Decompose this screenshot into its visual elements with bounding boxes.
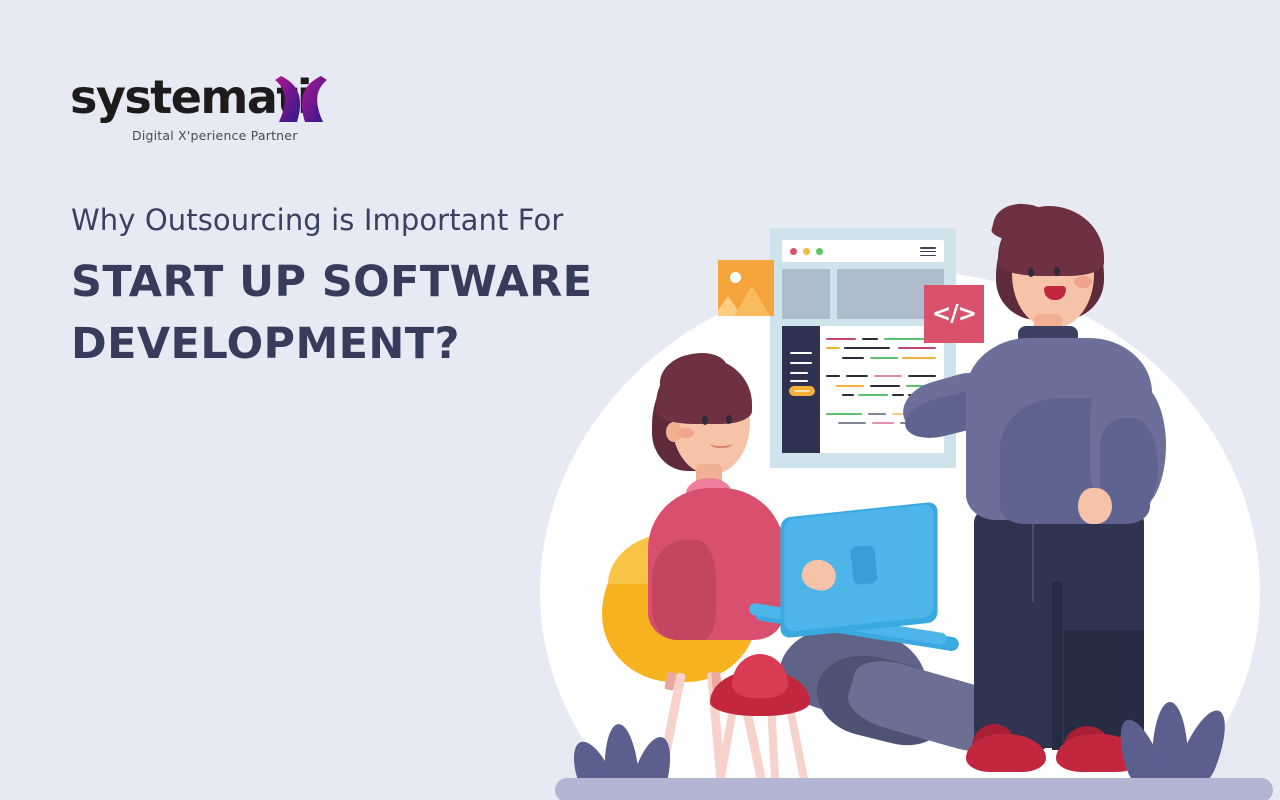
code-line — [826, 346, 938, 352]
close-dot-icon — [790, 248, 797, 255]
image-placeholder-icon — [718, 260, 774, 316]
code-line — [826, 336, 938, 342]
eye — [726, 415, 732, 424]
hand-on-hip — [1078, 488, 1112, 524]
banner-canvas: systemati Digital X'perience Partner Why… — [0, 0, 1280, 800]
maximize-dot-icon — [816, 248, 823, 255]
ground-bar — [555, 778, 1273, 800]
eye — [702, 416, 708, 425]
torso-shadow — [652, 540, 716, 640]
browser-titlebar — [782, 240, 944, 262]
laptop-logo — [850, 545, 878, 585]
eye — [1028, 268, 1034, 277]
sidebar-nav-line — [790, 352, 812, 354]
trouser-crease — [1032, 522, 1034, 602]
standing-manager — [960, 210, 1260, 790]
brand-logo-x-icon — [275, 70, 327, 128]
hero-illustration: </> — [500, 180, 1280, 800]
minimize-dot-icon — [803, 248, 810, 255]
eye — [1054, 267, 1060, 276]
cheek-blush — [1074, 276, 1092, 288]
cheek-blush — [678, 428, 694, 438]
trouser-seam — [1052, 582, 1062, 750]
brand-logo[interactable]: systemati Digital X'perience Partner — [70, 74, 340, 144]
mouth — [710, 436, 732, 448]
hamburger-menu-icon — [920, 247, 936, 256]
brand-tagline: Digital X'perience Partner — [132, 128, 298, 143]
content-placeholder-block — [782, 269, 830, 319]
